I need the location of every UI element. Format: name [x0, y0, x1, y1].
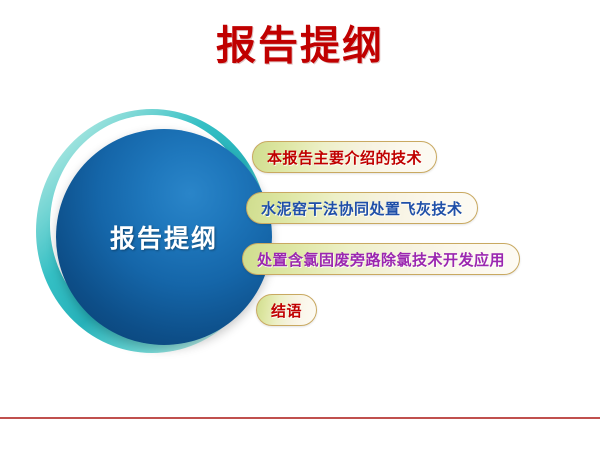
outline-item-2-label: 水泥窑干法协同处置飞灰技术 — [261, 198, 463, 219]
circle-ring-inner-mask: 报告提纲 — [50, 115, 254, 333]
page-title: 报告提纲 — [0, 22, 600, 70]
outline-item-3-label: 处置含氯固废旁路除氯技术开发应用 — [257, 249, 505, 270]
outline-item-1-label: 本报告主要介绍的技术 — [267, 147, 422, 168]
circle-shape: 报告提纲 — [56, 129, 272, 345]
outline-item-1[interactable]: 本报告主要介绍的技术 — [252, 141, 437, 173]
circle-diagram: 报告提纲 — [28, 105, 268, 355]
outline-item-4[interactable]: 结语 — [256, 294, 317, 326]
outline-item-2[interactable]: 水泥窑干法协同处置飞灰技术 — [246, 192, 478, 224]
outline-item-3[interactable]: 处置含氯固废旁路除氯技术开发应用 — [242, 243, 520, 275]
outline-item-4-label: 结语 — [271, 300, 302, 321]
footer-divider — [0, 417, 600, 419]
slide-canvas: 报告提纲 报告提纲 本报告主要介绍的技术 水泥窑干法协同处置飞灰技术 处置含氯固… — [0, 0, 600, 450]
circle-label: 报告提纲 — [56, 129, 272, 345]
